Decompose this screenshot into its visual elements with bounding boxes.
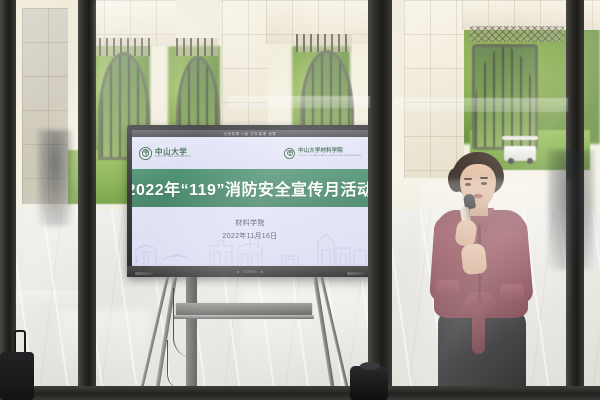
- facade-mesh-panel: [470, 26, 564, 42]
- sysu-logo-text: 中山大学 SUN YAT-SEN UNIVERSITY: [155, 148, 191, 159]
- arch-mullions: [475, 47, 535, 147]
- materials-school-logo: 中山大学材料学院 SCHOOL OF MATERIALS SCIENCE AND…: [284, 148, 361, 159]
- presenter-eye-left: [465, 183, 471, 186]
- display-status-text: 无线投屏 U盘 文件管理 设置: [223, 131, 276, 136]
- frosted-glass-band-right: [394, 98, 568, 112]
- sysu-seal-icon: [139, 147, 152, 160]
- bezel-indicator-dot: [261, 271, 263, 273]
- materials-school-logo-text: 中山大学材料学院 SCHOOL OF MATERIALS SCIENCE AND…: [298, 149, 361, 157]
- window-mullion-center: [368, 0, 392, 400]
- slide-header: 中山大学 SUN YAT-SEN UNIVERSITY 中山大学材料学院 SCH…: [132, 137, 368, 169]
- sysu-logo-cn: 中山大学: [155, 148, 191, 156]
- presenter-hand-lower: [460, 243, 487, 275]
- frosted-glass-band-left: [16, 290, 78, 304]
- display-status-bar[interactable]: 无线投屏 U盘 文件管理 设置: [132, 130, 368, 137]
- glass-reflected-figure-left: [38, 130, 72, 226]
- power-cable-lower: [167, 340, 183, 390]
- sysu-logo: 中山大学 SUN YAT-SEN UNIVERSITY: [139, 147, 191, 160]
- presenter-cuff-left: [436, 280, 460, 296]
- bezel-ports-right[interactable]: [347, 272, 365, 275]
- presenter: [424, 152, 540, 400]
- slide-date: 2022年11月16日: [223, 231, 278, 241]
- utility-cart-roof: [502, 136, 538, 140]
- stand-shelf: [176, 303, 312, 315]
- presenter-eye-right: [481, 182, 487, 185]
- interactive-display[interactable]: 无线投屏 U盘 文件管理 设置 中山大学 SUN YAT-SEN UNIVERS…: [127, 125, 373, 277]
- sysu-logo-en: SUN YAT-SEN UNIVERSITY: [155, 156, 191, 158]
- slide-page-marker: 1: [136, 259, 138, 263]
- equipment-bag-handle[interactable]: [360, 362, 380, 370]
- display-bezel-bottom: SEEWO: [127, 266, 373, 277]
- rolling-suitcase[interactable]: [0, 352, 34, 400]
- colonnade-arch-far-right: [472, 44, 538, 150]
- stand-shelf-edge: [174, 315, 314, 319]
- materials-school-logo-cn: 中山大学材料学院: [298, 149, 361, 154]
- bezel-indicator-dot: [237, 271, 239, 273]
- bezel-ports-left[interactable]: [135, 272, 153, 275]
- window-mullion-left: [78, 0, 96, 400]
- materials-school-logo-en: SCHOOL OF MATERIALS SCIENCE AND ENGINEER…: [298, 155, 361, 157]
- window-transom-bottom: [0, 386, 600, 400]
- slide-subtitle: 材料学院: [235, 218, 265, 228]
- frosted-glass-band-center: [228, 96, 370, 108]
- facade-grille-mid: [176, 38, 218, 56]
- presenter-brow-left: [464, 178, 472, 180]
- presenter-button: [478, 276, 482, 280]
- glass-reflected-person: [548, 150, 594, 270]
- presenter-brow-right: [480, 177, 488, 179]
- slide-title-band: 2022年“119”消防安全宣传月活动: [132, 169, 368, 207]
- floor-reflection-left: [60, 310, 150, 390]
- photo-scene: 无线投屏 U盘 文件管理 设置 中山大学 SUN YAT-SEN UNIVERS…: [0, 0, 600, 400]
- slide-body: 材料学院 2022年11月16日: [132, 207, 368, 266]
- presenter-cuff-right: [500, 284, 524, 300]
- bezel-brand-label: SEEWO: [243, 270, 257, 274]
- display-screen[interactable]: 无线投屏 U盘 文件管理 设置 中山大学 SUN YAT-SEN UNIVERS…: [132, 130, 368, 266]
- equipment-bag[interactable]: [350, 366, 388, 400]
- presenter-blouse-tail: [472, 308, 485, 354]
- slide-title: 2022年“119”消防安全宣传月活动: [132, 176, 368, 200]
- sysu-materials-seal-icon: [284, 148, 295, 159]
